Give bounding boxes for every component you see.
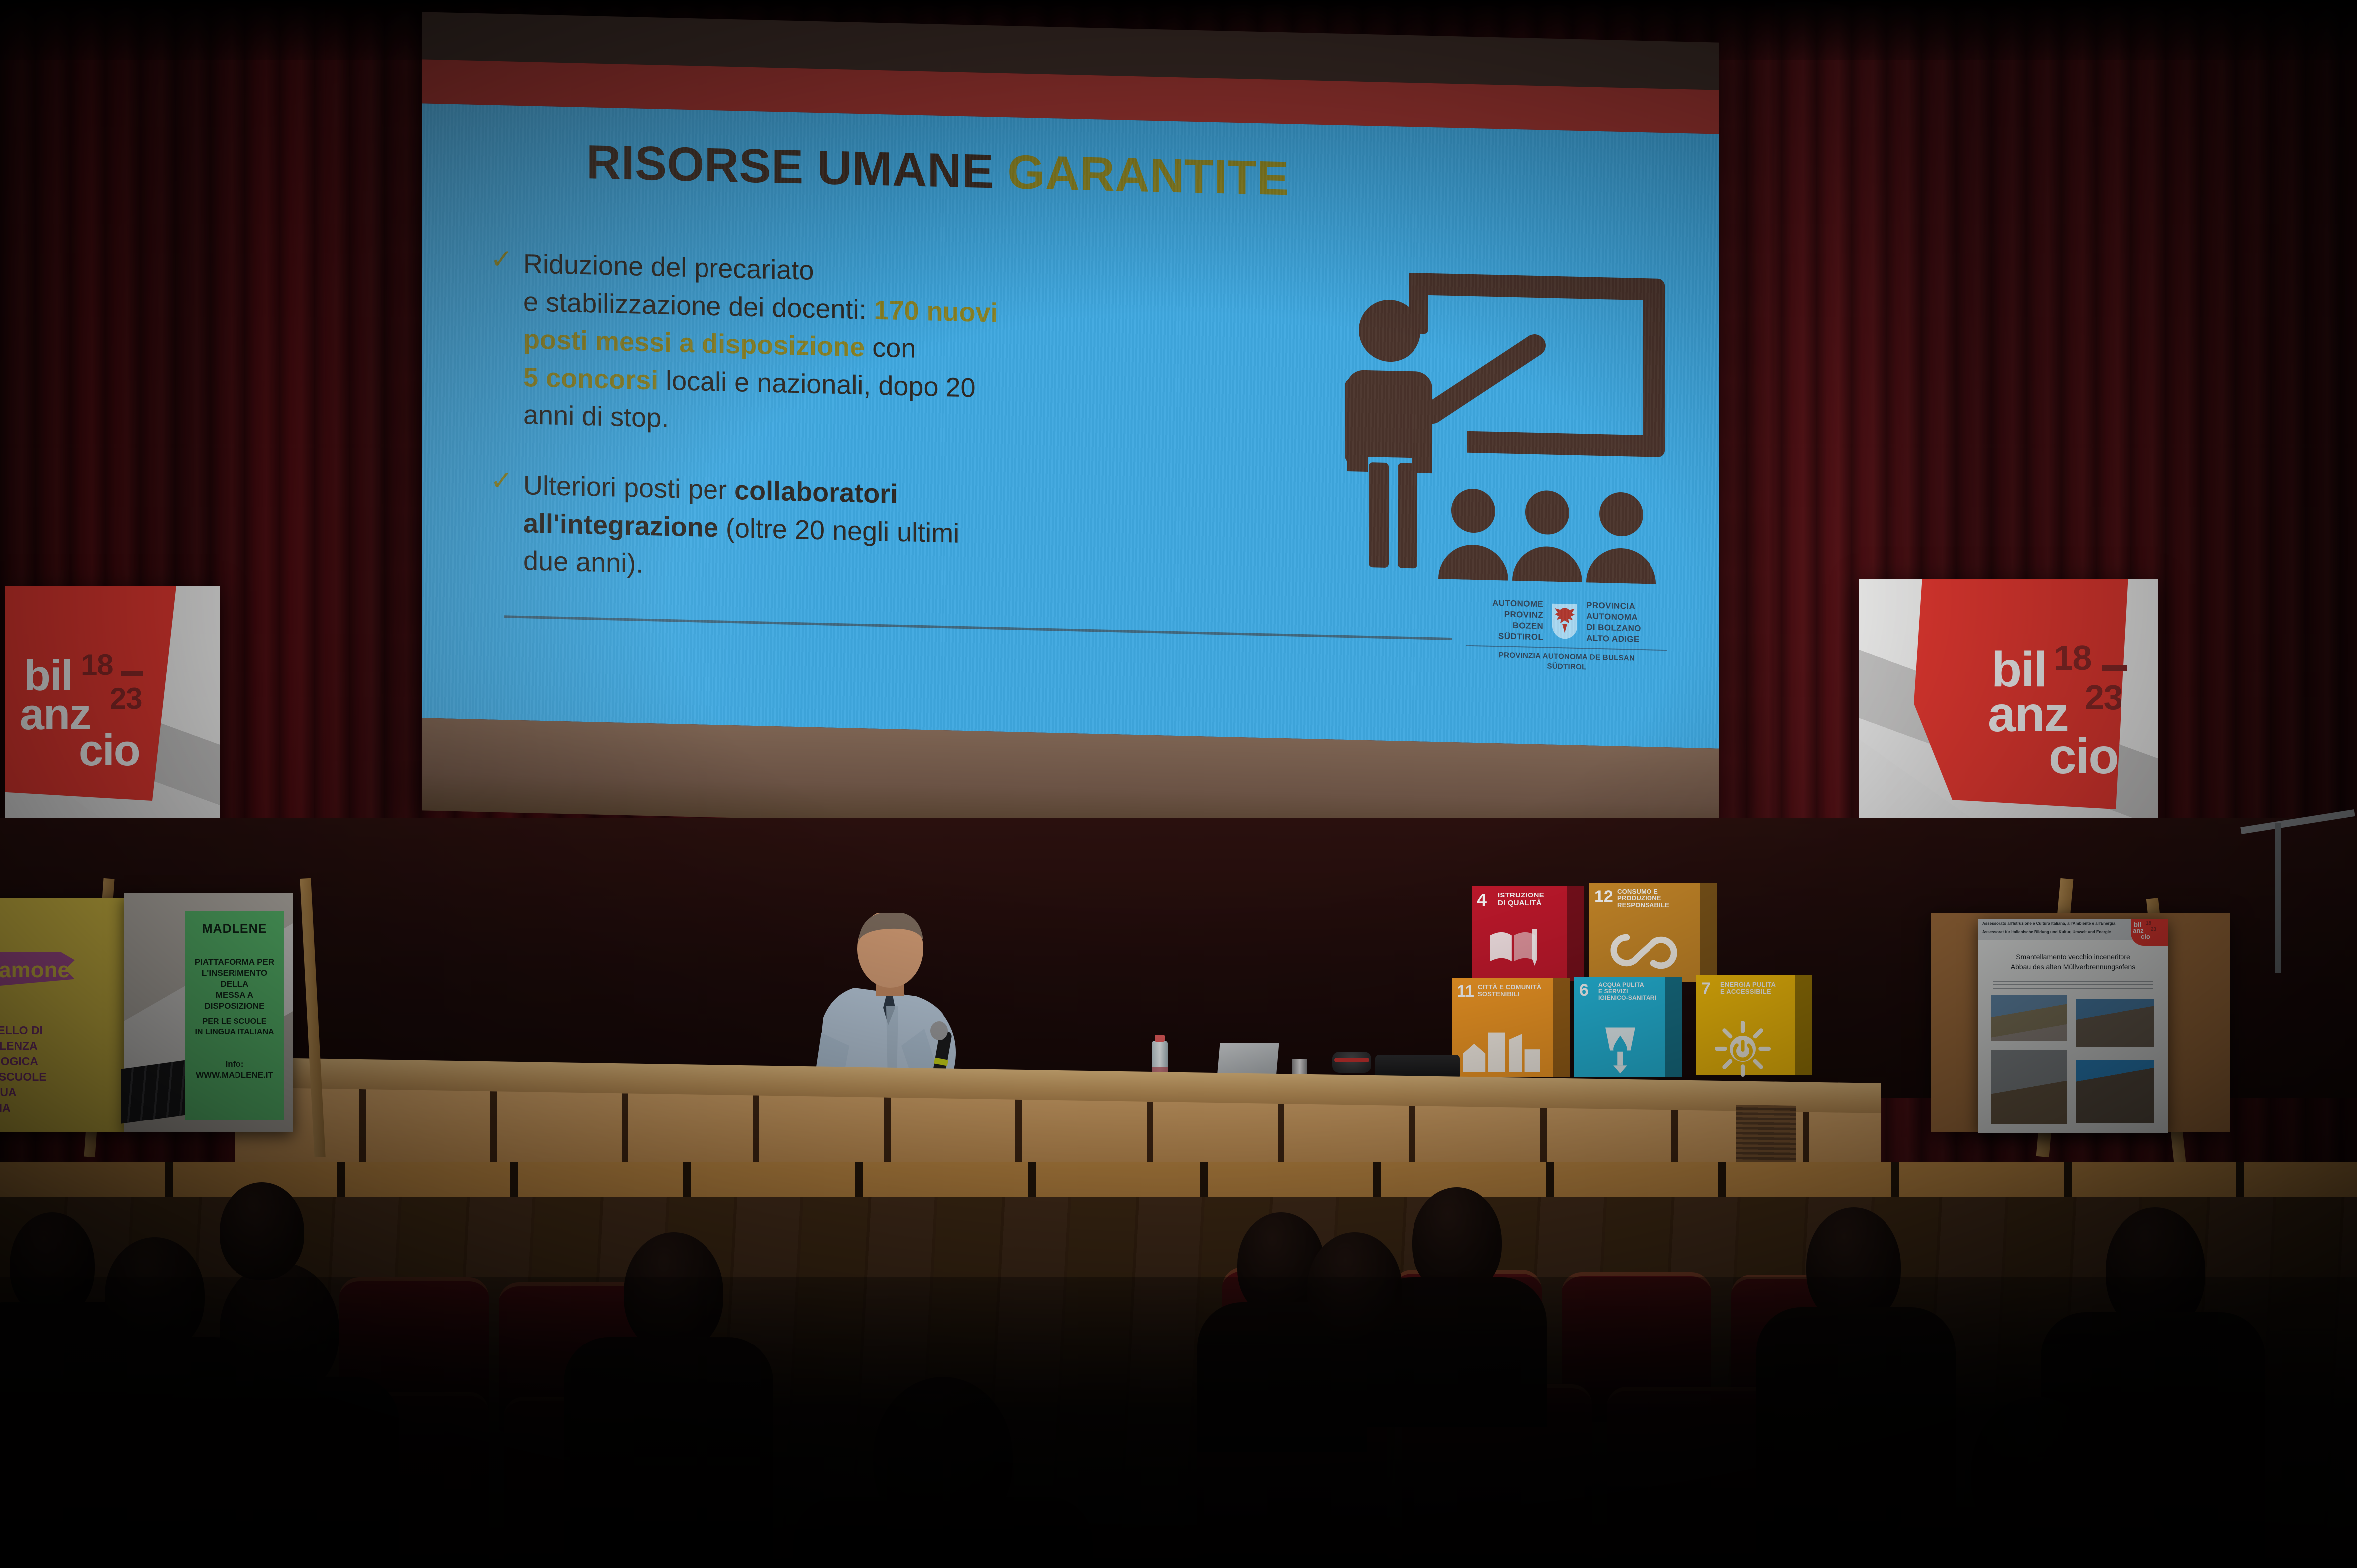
- auditorium-presentation-photo: RISORSE UMANE GARANTITE ✓ Riduzione del …: [0, 0, 2357, 1568]
- photo-vignette: [0, 0, 2357, 1568]
